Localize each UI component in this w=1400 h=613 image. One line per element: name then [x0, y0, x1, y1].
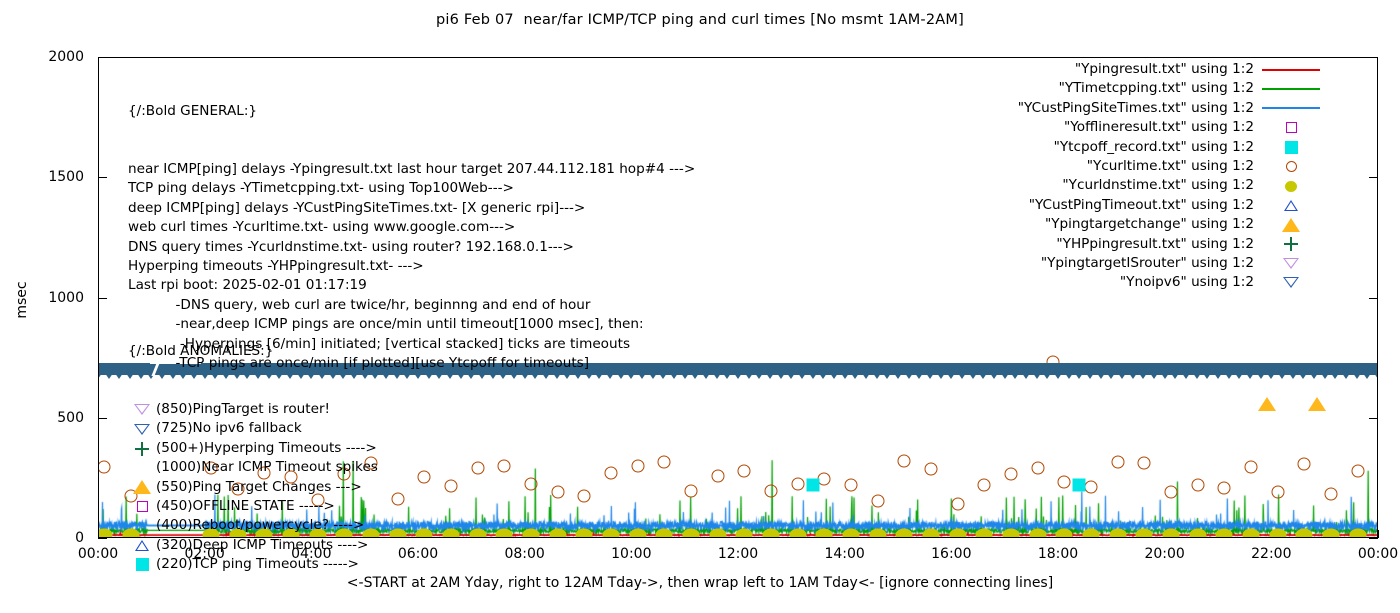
anomaly-label: (500+)Hyperping Timeouts ---->: [156, 439, 377, 458]
curldnstime-marker: [949, 528, 966, 537]
curltime-marker: [1111, 455, 1124, 468]
anomaly-label: (850)PingTarget is router!: [156, 400, 330, 419]
legend-label: "Ycurldnstime.txt" using 1:2: [1062, 176, 1254, 195]
curldnstime-marker: [496, 528, 513, 537]
curldnstime-marker: [1243, 528, 1260, 537]
legend-item: "Yofflineresult.txt" using 1:2: [982, 118, 1322, 137]
curltime-marker: [418, 470, 431, 483]
curltime-marker: [1245, 461, 1258, 474]
curltime-marker: [498, 460, 511, 473]
x-tick-label: 22:00: [1251, 546, 1291, 562]
curltime-marker: [1031, 461, 1044, 474]
curltime-marker: [925, 463, 938, 476]
curltime-marker: [391, 492, 404, 505]
curltime-marker: [978, 479, 991, 492]
anomaly-label: (450)OFFLINE STATE ----->: [156, 497, 335, 516]
legend-sq-fill-icon: [1260, 138, 1322, 157]
x-axis-caption: <-START at 2AM Yday, right to 12AM Tday-…: [0, 575, 1400, 591]
legend-line-swatch: [1262, 88, 1320, 90]
x-tick-label: 14:00: [824, 546, 864, 562]
legend-item: "Ynoipv6" using 1:2: [982, 273, 1322, 292]
curldnstime-marker: [1109, 528, 1126, 537]
legend-item: "Ytcpoff_record.txt" using 1:2: [982, 138, 1322, 157]
curltime-marker: [1325, 487, 1338, 500]
x-tick-label: 06:00: [398, 546, 438, 562]
annotation-line: deep ICMP[ping] delays -YCustPingSiteTim…: [128, 199, 695, 218]
tri-up-open-icon: [128, 540, 156, 551]
curltime-marker: [1351, 464, 1364, 477]
x-tick-label: 10:00: [611, 546, 651, 562]
x-tick-label: 00:00: [1358, 546, 1398, 562]
anomaly-line: (1000)Near ICMP Timeout spikes: [128, 458, 378, 477]
annotation-line: Hyperping timeouts -YHPpingresult.txt- -…: [128, 257, 695, 276]
curltime-marker: [845, 479, 858, 492]
anomaly-label: (320)Deep ICMP Timeouts ---->: [156, 536, 368, 555]
y-tick-mark: [98, 538, 107, 539]
y-tick-mark: [1369, 538, 1378, 539]
curltime-marker: [658, 455, 671, 468]
legend-label: "Yofflineresult.txt" using 1:2: [1064, 118, 1254, 137]
legend-item: "YTimetcpping.txt" using 1:2: [982, 79, 1322, 98]
curldnstime-marker: [1189, 528, 1206, 537]
curldnstime-marker: [1216, 528, 1233, 537]
curltime-marker: [525, 478, 538, 491]
sq-open-icon: [128, 501, 156, 512]
x-tick-label: 18:00: [1038, 546, 1078, 562]
legend-item: "YHPpingresult.txt" using 1:2: [982, 235, 1322, 254]
anomaly-line: (500+)Hyperping Timeouts ---->: [128, 439, 378, 458]
x-tick-label: 20:00: [1144, 546, 1184, 562]
curltime-marker: [445, 479, 458, 492]
y-tick-label: 0: [0, 530, 84, 546]
legend-plus-icon: [1260, 235, 1322, 254]
curldnstime-marker: [709, 528, 726, 537]
legend-line-icon: [1260, 99, 1322, 118]
legend-label: "YCustPingSiteTimes.txt" using 1:2: [1018, 99, 1254, 118]
x-tick-label: 12:00: [718, 546, 758, 562]
curltime-marker: [818, 472, 831, 485]
anomaly-label: (1000)Near ICMP Timeout spikes: [156, 458, 378, 477]
curltime-marker: [1138, 456, 1151, 469]
curltime-marker: [871, 495, 884, 508]
legend-dot-icon: [1260, 176, 1322, 195]
curltime-marker: [1085, 480, 1098, 493]
curldnstime-marker: [843, 528, 860, 537]
legend-label: "YTimetcpping.txt" using 1:2: [1059, 79, 1254, 98]
tcpoff-marker: [1073, 478, 1086, 491]
legend-label: "YCustPingTimeout.txt" using 1:2: [1029, 196, 1254, 215]
curldnstime-marker: [656, 528, 673, 537]
annotation-line: TCP ping delays -YTimetcpping.txt- using…: [128, 179, 695, 198]
legend-label: "Ypingtargetchange" using 1:2: [1045, 215, 1254, 234]
curldnstime-marker: [469, 528, 486, 537]
curldnstime-marker: [629, 528, 646, 537]
legend-line-icon: [1260, 79, 1322, 98]
curldnstime-marker: [923, 528, 940, 537]
curltime-marker: [1218, 482, 1231, 495]
anomaly-line: (320)Deep ICMP Timeouts ---->: [128, 536, 378, 555]
tcpoff-marker: [806, 478, 819, 491]
page-title: pi6 Feb 07 near/far ICMP/TCP ping and cu…: [0, 12, 1400, 28]
curldnstime-marker: [1003, 528, 1020, 537]
plus-icon: [128, 442, 156, 456]
anomaly-label: (550)Ping Target Changes --->: [156, 478, 362, 497]
legend-item: "YCustPingTimeout.txt" using 1:2: [982, 196, 1322, 215]
curldnstime-marker: [1349, 528, 1366, 537]
x-tick-label: 08:00: [504, 546, 544, 562]
curltime-marker: [765, 485, 778, 498]
legend-item: "YCustPingSiteTimes.txt" using 1:2: [982, 99, 1322, 118]
curltime-marker: [605, 466, 618, 479]
legend-label: "YpingtargetISrouter" using 1:2: [1041, 254, 1254, 273]
curldnstime-marker: [683, 528, 700, 537]
curltime-marker: [1298, 457, 1311, 470]
curldnstime-marker: [416, 528, 433, 537]
curltime-marker: [711, 469, 724, 482]
legend-label: "Ypingresult.txt" using 1:2: [1075, 60, 1254, 79]
curltime-marker: [1058, 476, 1071, 489]
curldnstime-marker: [976, 528, 993, 537]
legend-circ-icon: [1260, 157, 1322, 176]
legend-label: "Ynoipv6" using 1:2: [1120, 273, 1254, 292]
curltime-marker: [1005, 468, 1018, 481]
legend-tri-up-fill-icon: [1260, 215, 1322, 234]
legend-item: "YpingtargetISrouter" using 1:2: [982, 254, 1322, 273]
legend-tri-dn-blue-icon: [1260, 273, 1322, 292]
x-tick-label: 16:00: [931, 546, 971, 562]
curldnstime-marker: [99, 528, 113, 537]
curltime-marker: [738, 464, 751, 477]
x-tick-label: 00:00: [78, 546, 118, 562]
legend-line-icon: [1260, 60, 1322, 79]
curldnstime-marker: [576, 528, 593, 537]
legend: "Ypingresult.txt" using 1:2"YTimetcpping…: [982, 60, 1322, 293]
curldnstime-marker: [1029, 528, 1046, 537]
annotation-general-header: {/:Bold GENERAL:}: [128, 102, 695, 121]
curldnstime-marker: [603, 528, 620, 537]
legend-label: "YHPpingresult.txt" using 1:2: [1056, 235, 1254, 254]
curldnstime-marker: [789, 528, 806, 537]
curldnstime-marker: [1163, 528, 1180, 537]
legend-tri-dn-violet-icon: [1260, 254, 1322, 273]
pingtargetchange-marker: [1258, 397, 1276, 411]
annotation-anomalies-header: {/:Bold ANOMALIES:}: [128, 342, 378, 361]
curldnstime-marker: [869, 528, 886, 537]
curldnstime-marker: [816, 528, 833, 537]
y-tick-label: 1000: [0, 290, 84, 306]
y-tick-label: 1500: [0, 169, 84, 185]
sq-fill-icon: [128, 558, 156, 571]
annotation-line: near ICMP[ping] delays -Ypingresult.txt …: [128, 160, 695, 179]
annotation-anomalies: {/:Bold ANOMALIES:} (850)PingTarget is r…: [128, 303, 378, 613]
curldnstime-marker: [763, 528, 780, 537]
annotation-line: DNS query times -Ycurldnstime.txt- using…: [128, 238, 695, 257]
curltime-marker: [791, 477, 804, 490]
curldnstime-marker: [1136, 528, 1153, 537]
anomaly-line: (850)PingTarget is router!: [128, 400, 378, 419]
anomaly-label: (725)No ipv6 fallback: [156, 419, 302, 438]
curltime-marker: [1165, 485, 1178, 498]
x-tick-mark: [1378, 530, 1379, 538]
tri-up-fill-icon: [128, 480, 156, 494]
anomaly-line: (220)TCP ping Timeouts ----->: [128, 555, 378, 574]
anomaly-label: (400)Reboot/powercycle? ---->: [156, 516, 364, 535]
curldnstime-marker: [389, 528, 406, 537]
curldnstime-marker: [1296, 528, 1313, 537]
legend-label: "Ytcpoff_record.txt" using 1:2: [1054, 138, 1254, 157]
legend-item: "Ycurltime.txt" using 1:2: [982, 157, 1322, 176]
curltime-marker: [631, 460, 644, 473]
anomaly-line: (725)No ipv6 fallback: [128, 419, 378, 438]
curltime-marker: [551, 485, 564, 498]
curldnstime-marker: [1083, 528, 1100, 537]
curldnstime-marker: [1269, 528, 1286, 537]
curltime-marker: [471, 461, 484, 474]
anomaly-line: (550)Ping Target Changes --->: [128, 478, 378, 497]
curldnstime-marker: [736, 528, 753, 537]
curltime-marker: [578, 490, 591, 503]
y-tick-label: 500: [0, 410, 84, 426]
legend-label: "Ycurltime.txt" using 1:2: [1087, 157, 1254, 176]
tri-dn-blue-icon: [128, 424, 156, 435]
curltime-marker: [951, 497, 964, 510]
annotation-line: Last rpi boot: 2025-02-01 01:17:19: [128, 276, 695, 295]
y-tick-label: 2000: [0, 49, 84, 65]
legend-sq-open-icon: [1260, 118, 1322, 137]
curldnstime-marker: [523, 528, 540, 537]
legend-item: "Ypingtargetchange" using 1:2: [982, 215, 1322, 234]
curldnstime-marker: [1056, 528, 1073, 537]
curldnstime-marker: [443, 528, 460, 537]
legend-item: "Ycurldnstime.txt" using 1:2: [982, 176, 1322, 195]
curldnstime-marker: [1323, 528, 1340, 537]
anomaly-line: (450)OFFLINE STATE ----->: [128, 497, 378, 516]
anomaly-label: (220)TCP ping Timeouts ----->: [156, 555, 359, 574]
curltime-marker: [685, 484, 698, 497]
noipv6-marker: [1367, 363, 1377, 379]
legend-item: "Ypingresult.txt" using 1:2: [982, 60, 1322, 79]
curltime-marker: [1271, 485, 1284, 498]
curldnstime-marker: [896, 528, 913, 537]
pingtargetchange-marker: [1308, 397, 1326, 411]
anomaly-line: (400)Reboot/powercycle? ---->: [128, 516, 378, 535]
plot-root: pi6 Feb 07 near/far ICMP/TCP ping and cu…: [0, 0, 1400, 600]
tri-dn-violet-icon: [128, 404, 156, 415]
annotation-line: web curl times -Ycurltime.txt- using www…: [128, 218, 695, 237]
curltime-marker: [898, 455, 911, 468]
curldnstime-marker: [549, 528, 566, 537]
legend-tri-up-open-icon: [1260, 196, 1322, 215]
curltime-marker: [1191, 479, 1204, 492]
legend-line-swatch: [1262, 107, 1320, 109]
legend-line-swatch: [1262, 69, 1320, 71]
